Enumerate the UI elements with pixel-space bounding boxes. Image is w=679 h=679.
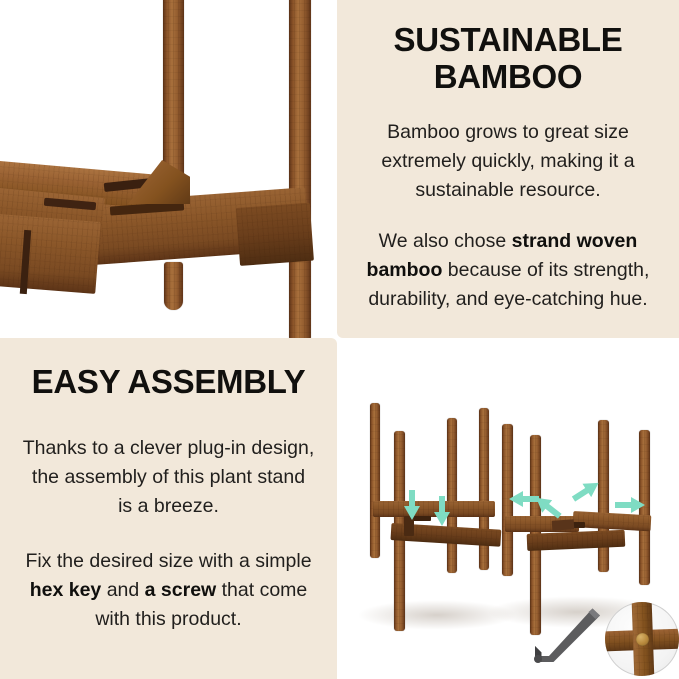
wood-grain	[289, 0, 311, 338]
wood-grain	[598, 420, 609, 572]
cross-joint-inset	[605, 602, 679, 676]
easy-assembly-heading: EASY ASSEMBLY	[32, 364, 306, 401]
sustainable-bamboo-heading: SUSTAINABLE BAMBOO	[373, 22, 643, 96]
para2-run-3: and	[101, 579, 144, 601]
easy-assembly-paragraph-2: Fix the desired size with a simple hex k…	[19, 547, 319, 634]
leg-right-tall	[289, 0, 311, 338]
wood-grain	[236, 203, 314, 266]
para1-run-1: Bamboo grows to great size extremely qui…	[381, 121, 634, 201]
wood-grain	[370, 403, 380, 558]
joint-screw-icon	[636, 633, 649, 646]
sustainable-bamboo-feature: SUSTAINABLE BAMBOO Bamboo grows to great…	[337, 0, 679, 338]
right-frame-rail-front	[527, 530, 626, 551]
sustainable-bamboo-paragraph-1: Bamboo grows to great size extremely qui…	[363, 118, 653, 205]
assembly-arrow-down-2	[433, 496, 451, 526]
rail-left-foreground	[0, 213, 101, 294]
wood-grain	[527, 530, 626, 551]
assembly-arrow-down-1	[403, 490, 421, 520]
para2-run-2-bold: hex key	[30, 579, 102, 601]
easy-assembly-feature: EASY ASSEMBLY Thanks to a clever plug-in…	[0, 338, 337, 679]
left-frame-leg-1	[370, 403, 380, 558]
wood-grain	[0, 213, 101, 294]
para2-run-1: We also chose	[379, 230, 512, 252]
assembly-arrow-right	[615, 496, 645, 514]
leg-stub-front	[164, 262, 183, 310]
product-closeup-photo	[0, 0, 337, 338]
rail-segment-far-right	[236, 203, 314, 266]
sustainable-bamboo-paragraph-2: We also chose strand woven bamboo becaus…	[358, 227, 658, 314]
wood-grain	[164, 262, 183, 310]
para2-run-4-bold: a screw	[145, 579, 217, 601]
easy-assembly-paragraph-1: Thanks to a clever plug-in design, the a…	[23, 434, 315, 521]
closeup-stage	[0, 0, 337, 338]
para2-run-1: Fix the desired size with a simple	[25, 550, 311, 572]
assembly-diagram-photo	[337, 338, 679, 679]
para1-run-1: Thanks to a clever plug-in design, the a…	[23, 437, 315, 517]
feature-collage: SUSTAINABLE BAMBOO Bamboo grows to great…	[0, 0, 679, 679]
right-frame-leg-3	[598, 420, 609, 572]
hex-key-icon	[529, 606, 603, 673]
